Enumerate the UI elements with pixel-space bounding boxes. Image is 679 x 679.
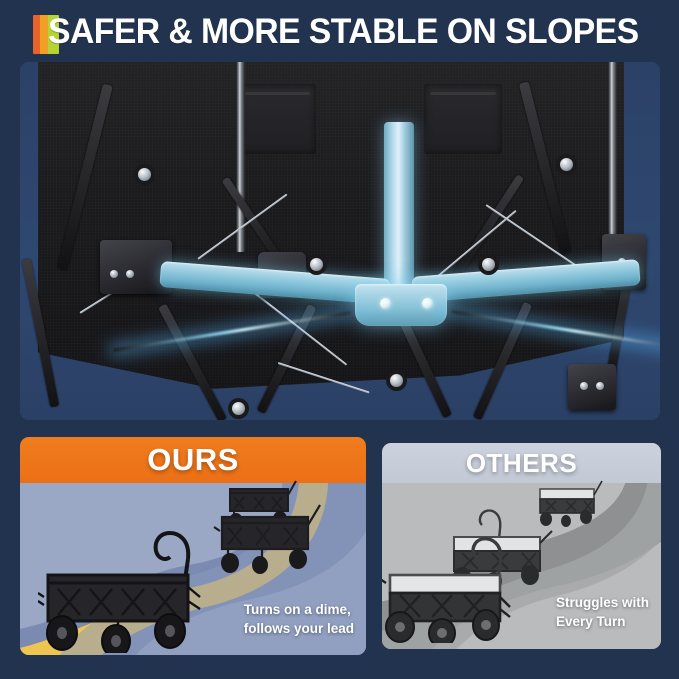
frame-pivot-joint bbox=[482, 258, 495, 271]
accent-band-orange bbox=[33, 15, 40, 54]
frame-pivot-joint bbox=[310, 258, 323, 271]
others-header: OTHERS bbox=[382, 443, 661, 483]
hub-bolt bbox=[422, 298, 433, 309]
frame-pivot-joint bbox=[138, 168, 151, 181]
highlighted-blue-post bbox=[384, 122, 414, 297]
others-caption: Struggles with Every Turn bbox=[556, 593, 649, 631]
wagon-side-pocket bbox=[424, 84, 502, 154]
comparison-panel-ours: OURS bbox=[20, 437, 366, 655]
wagon-corner-bracket bbox=[568, 364, 616, 410]
hero-product-photo bbox=[20, 62, 660, 420]
ours-title: OURS bbox=[147, 442, 239, 478]
product-feature-image: SAFER & MORE STABLE ON SLOPES bbox=[0, 0, 679, 679]
others-title: OTHERS bbox=[466, 448, 577, 479]
bracket-bolt bbox=[596, 382, 604, 390]
others-illustration: Struggles with Every Turn bbox=[382, 483, 661, 649]
frame-pivot-joint bbox=[560, 158, 573, 171]
highlighted-blue-center-hub bbox=[355, 284, 447, 326]
frame-pivot-joint bbox=[232, 402, 245, 415]
bracket-bolt bbox=[110, 270, 118, 278]
wagon-vertical-post bbox=[608, 62, 617, 248]
wagon-side-pocket bbox=[238, 84, 316, 154]
hub-bolt bbox=[380, 298, 391, 309]
wagon-illustration-near bbox=[382, 537, 546, 643]
comparison-panel-others: OTHERS bbox=[382, 443, 661, 649]
page-title: SAFER & MORE STABLE ON SLOPES bbox=[48, 9, 639, 55]
accent-band-amber bbox=[40, 15, 48, 54]
wagon-illustration-near bbox=[38, 531, 238, 653]
ours-caption: Turns on a dime, follows your lead bbox=[244, 600, 354, 638]
ours-illustration: Turns on a dime, follows your lead bbox=[20, 483, 366, 655]
ours-header: OURS bbox=[20, 437, 366, 483]
headline-bar: SAFER & MORE STABLE ON SLOPES bbox=[0, 0, 679, 62]
bracket-bolt bbox=[580, 382, 588, 390]
bracket-bolt bbox=[126, 270, 134, 278]
frame-pivot-joint bbox=[390, 374, 403, 387]
